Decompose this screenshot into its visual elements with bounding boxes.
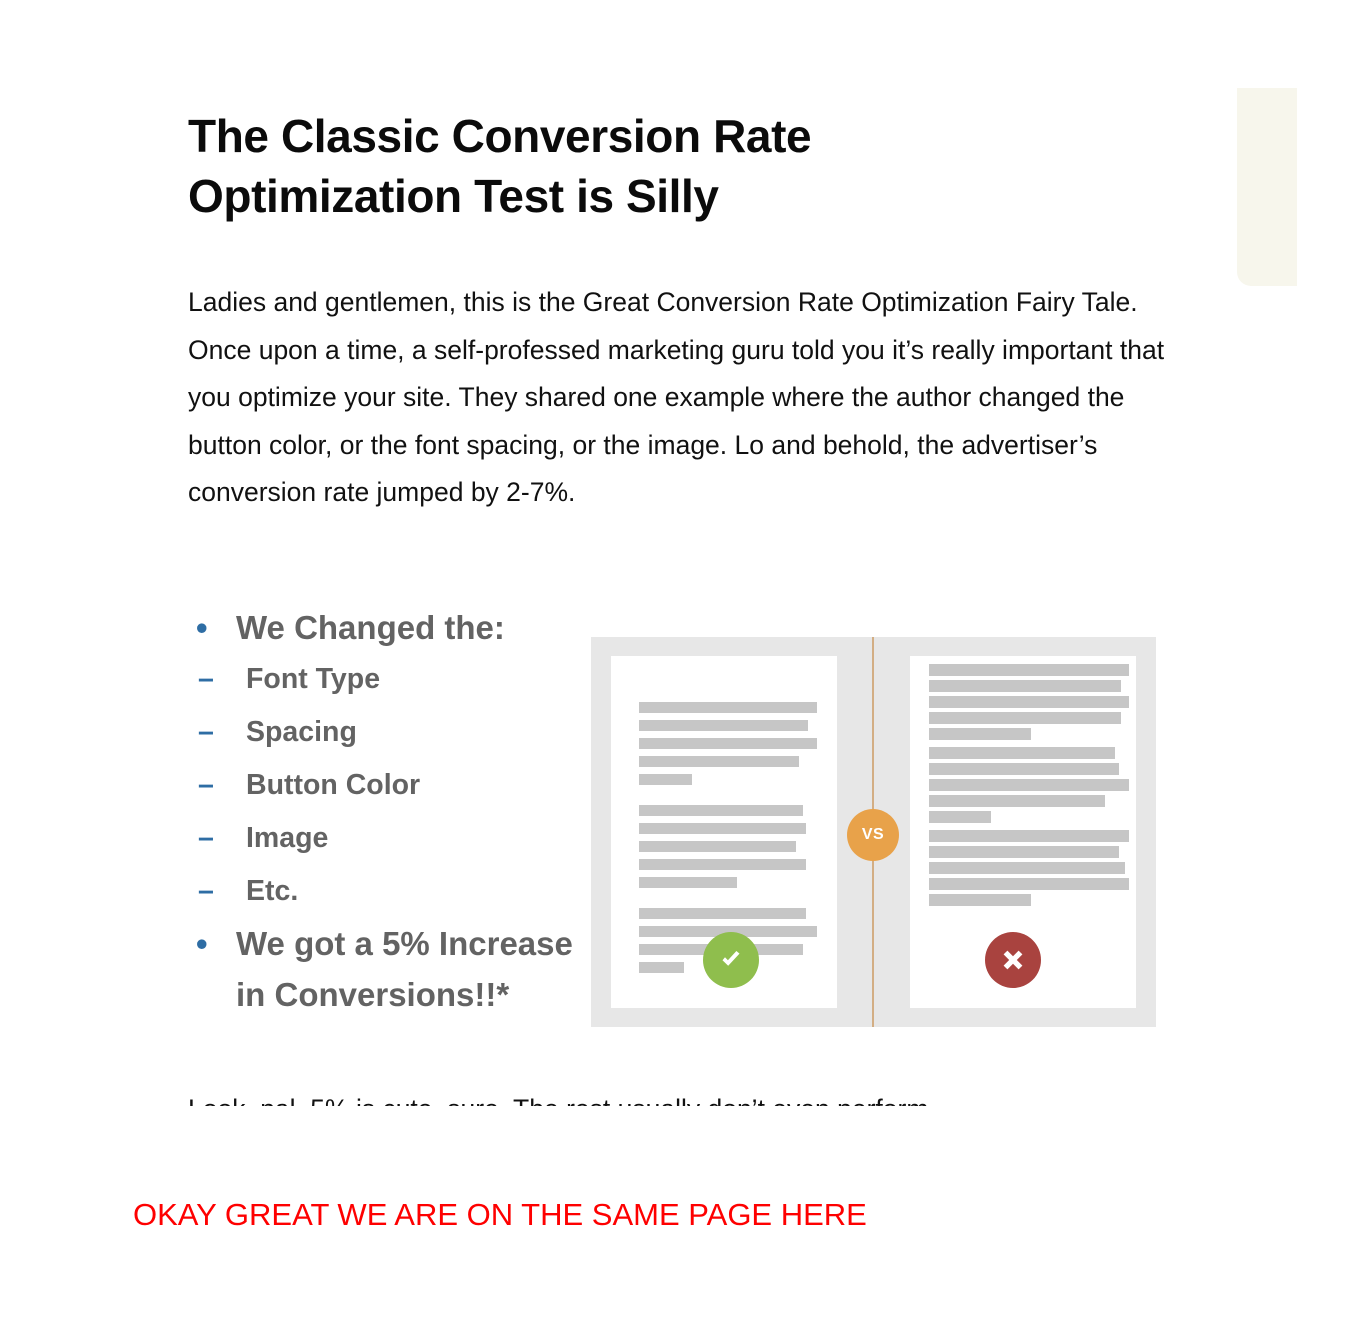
slide-content: The Classic Conversion Rate Optimization… xyxy=(0,0,1358,1324)
text-line-bar xyxy=(639,720,808,731)
check-circle-icon xyxy=(703,932,759,988)
bullet-dot-icon: • xyxy=(196,918,224,969)
x-circle-icon xyxy=(985,932,1041,988)
text-line-bar xyxy=(639,908,806,919)
text-line-bar xyxy=(929,680,1121,692)
sub-item-image: – Image xyxy=(188,812,588,865)
bullet-list: • We Changed the: – Font Type – Spacing … xyxy=(188,602,588,1020)
text-line-bar xyxy=(639,774,692,785)
bar-group xyxy=(639,805,817,888)
text-line-bar xyxy=(639,841,796,852)
bar-group xyxy=(929,830,1129,906)
text-line-bar xyxy=(639,962,684,973)
text-line-bar xyxy=(929,696,1129,708)
sub-item-label: Button Color xyxy=(246,769,420,801)
text-line-bar xyxy=(929,712,1121,724)
text-line-bar xyxy=(929,795,1105,807)
dash-icon: – xyxy=(198,759,214,812)
list-item: • We got a 5% Increase in Conversions!!* xyxy=(188,918,588,1020)
bullet-item-conversion-increase: • We got a 5% Increase in Conversions!!* xyxy=(188,918,588,1020)
text-line-bar xyxy=(929,747,1115,759)
bullet-sublist: – Font Type – Spacing – Button Color – I… xyxy=(188,653,588,918)
clipped-paragraph: Look, pal, 5% is cute, sure. The rest us… xyxy=(188,1086,1176,1106)
red-annotation-caption: OKAY GREAT WE ARE ON THE SAME PAGE HERE xyxy=(133,1196,867,1234)
bullet-dot-icon: • xyxy=(196,602,224,653)
text-line-bar xyxy=(639,877,737,888)
bar-group xyxy=(929,664,1129,740)
text-line-bar xyxy=(929,830,1129,842)
text-line-bar xyxy=(639,859,806,870)
text-line-bar xyxy=(929,862,1125,874)
text-line-bar xyxy=(929,811,991,823)
dash-icon: – xyxy=(198,653,214,706)
text-line-bar xyxy=(929,728,1031,740)
text-line-bar xyxy=(929,878,1129,890)
variant-b-text-lines xyxy=(929,664,1129,913)
page-title: The Classic Conversion Rate Optimization… xyxy=(188,106,978,227)
text-line-bar xyxy=(639,756,799,767)
text-line-bar xyxy=(929,664,1129,676)
list-item: • We Changed the: – Font Type – Spacing … xyxy=(188,602,588,918)
text-line-bar xyxy=(929,846,1119,858)
text-line-bar xyxy=(929,779,1129,791)
bullet-item-label: We Changed the: xyxy=(236,609,505,646)
bar-group xyxy=(929,747,1129,823)
text-line-bar xyxy=(639,805,803,816)
sub-item-button-color: – Button Color xyxy=(188,759,588,812)
text-line-bar xyxy=(639,823,806,834)
sub-item-label: Spacing xyxy=(246,716,357,748)
sub-item-label: Etc. xyxy=(246,875,298,907)
text-line-bar xyxy=(929,763,1119,775)
sub-item-etc: – Etc. xyxy=(188,865,588,918)
ab-test-illustration: VS xyxy=(591,637,1156,1027)
bullet-item-we-changed-the: • We Changed the: xyxy=(188,602,588,653)
vs-badge: VS xyxy=(847,809,899,861)
sub-item-font-type: – Font Type xyxy=(188,653,588,706)
text-line-bar xyxy=(929,894,1031,906)
sub-item-label: Image xyxy=(246,822,328,854)
dash-icon: – xyxy=(198,706,214,759)
bullet-item-label: We got a 5% Increase in Conversions!!* xyxy=(236,925,573,1013)
sub-item-label: Font Type xyxy=(246,663,380,695)
dash-icon: – xyxy=(198,812,214,865)
dash-icon: – xyxy=(198,865,214,918)
body-paragraph: Ladies and gentlemen, this is the Great … xyxy=(188,279,1176,517)
text-line-bar xyxy=(639,702,817,713)
sub-item-spacing: – Spacing xyxy=(188,706,588,759)
text-line-bar xyxy=(639,738,817,749)
bar-group xyxy=(639,702,817,785)
